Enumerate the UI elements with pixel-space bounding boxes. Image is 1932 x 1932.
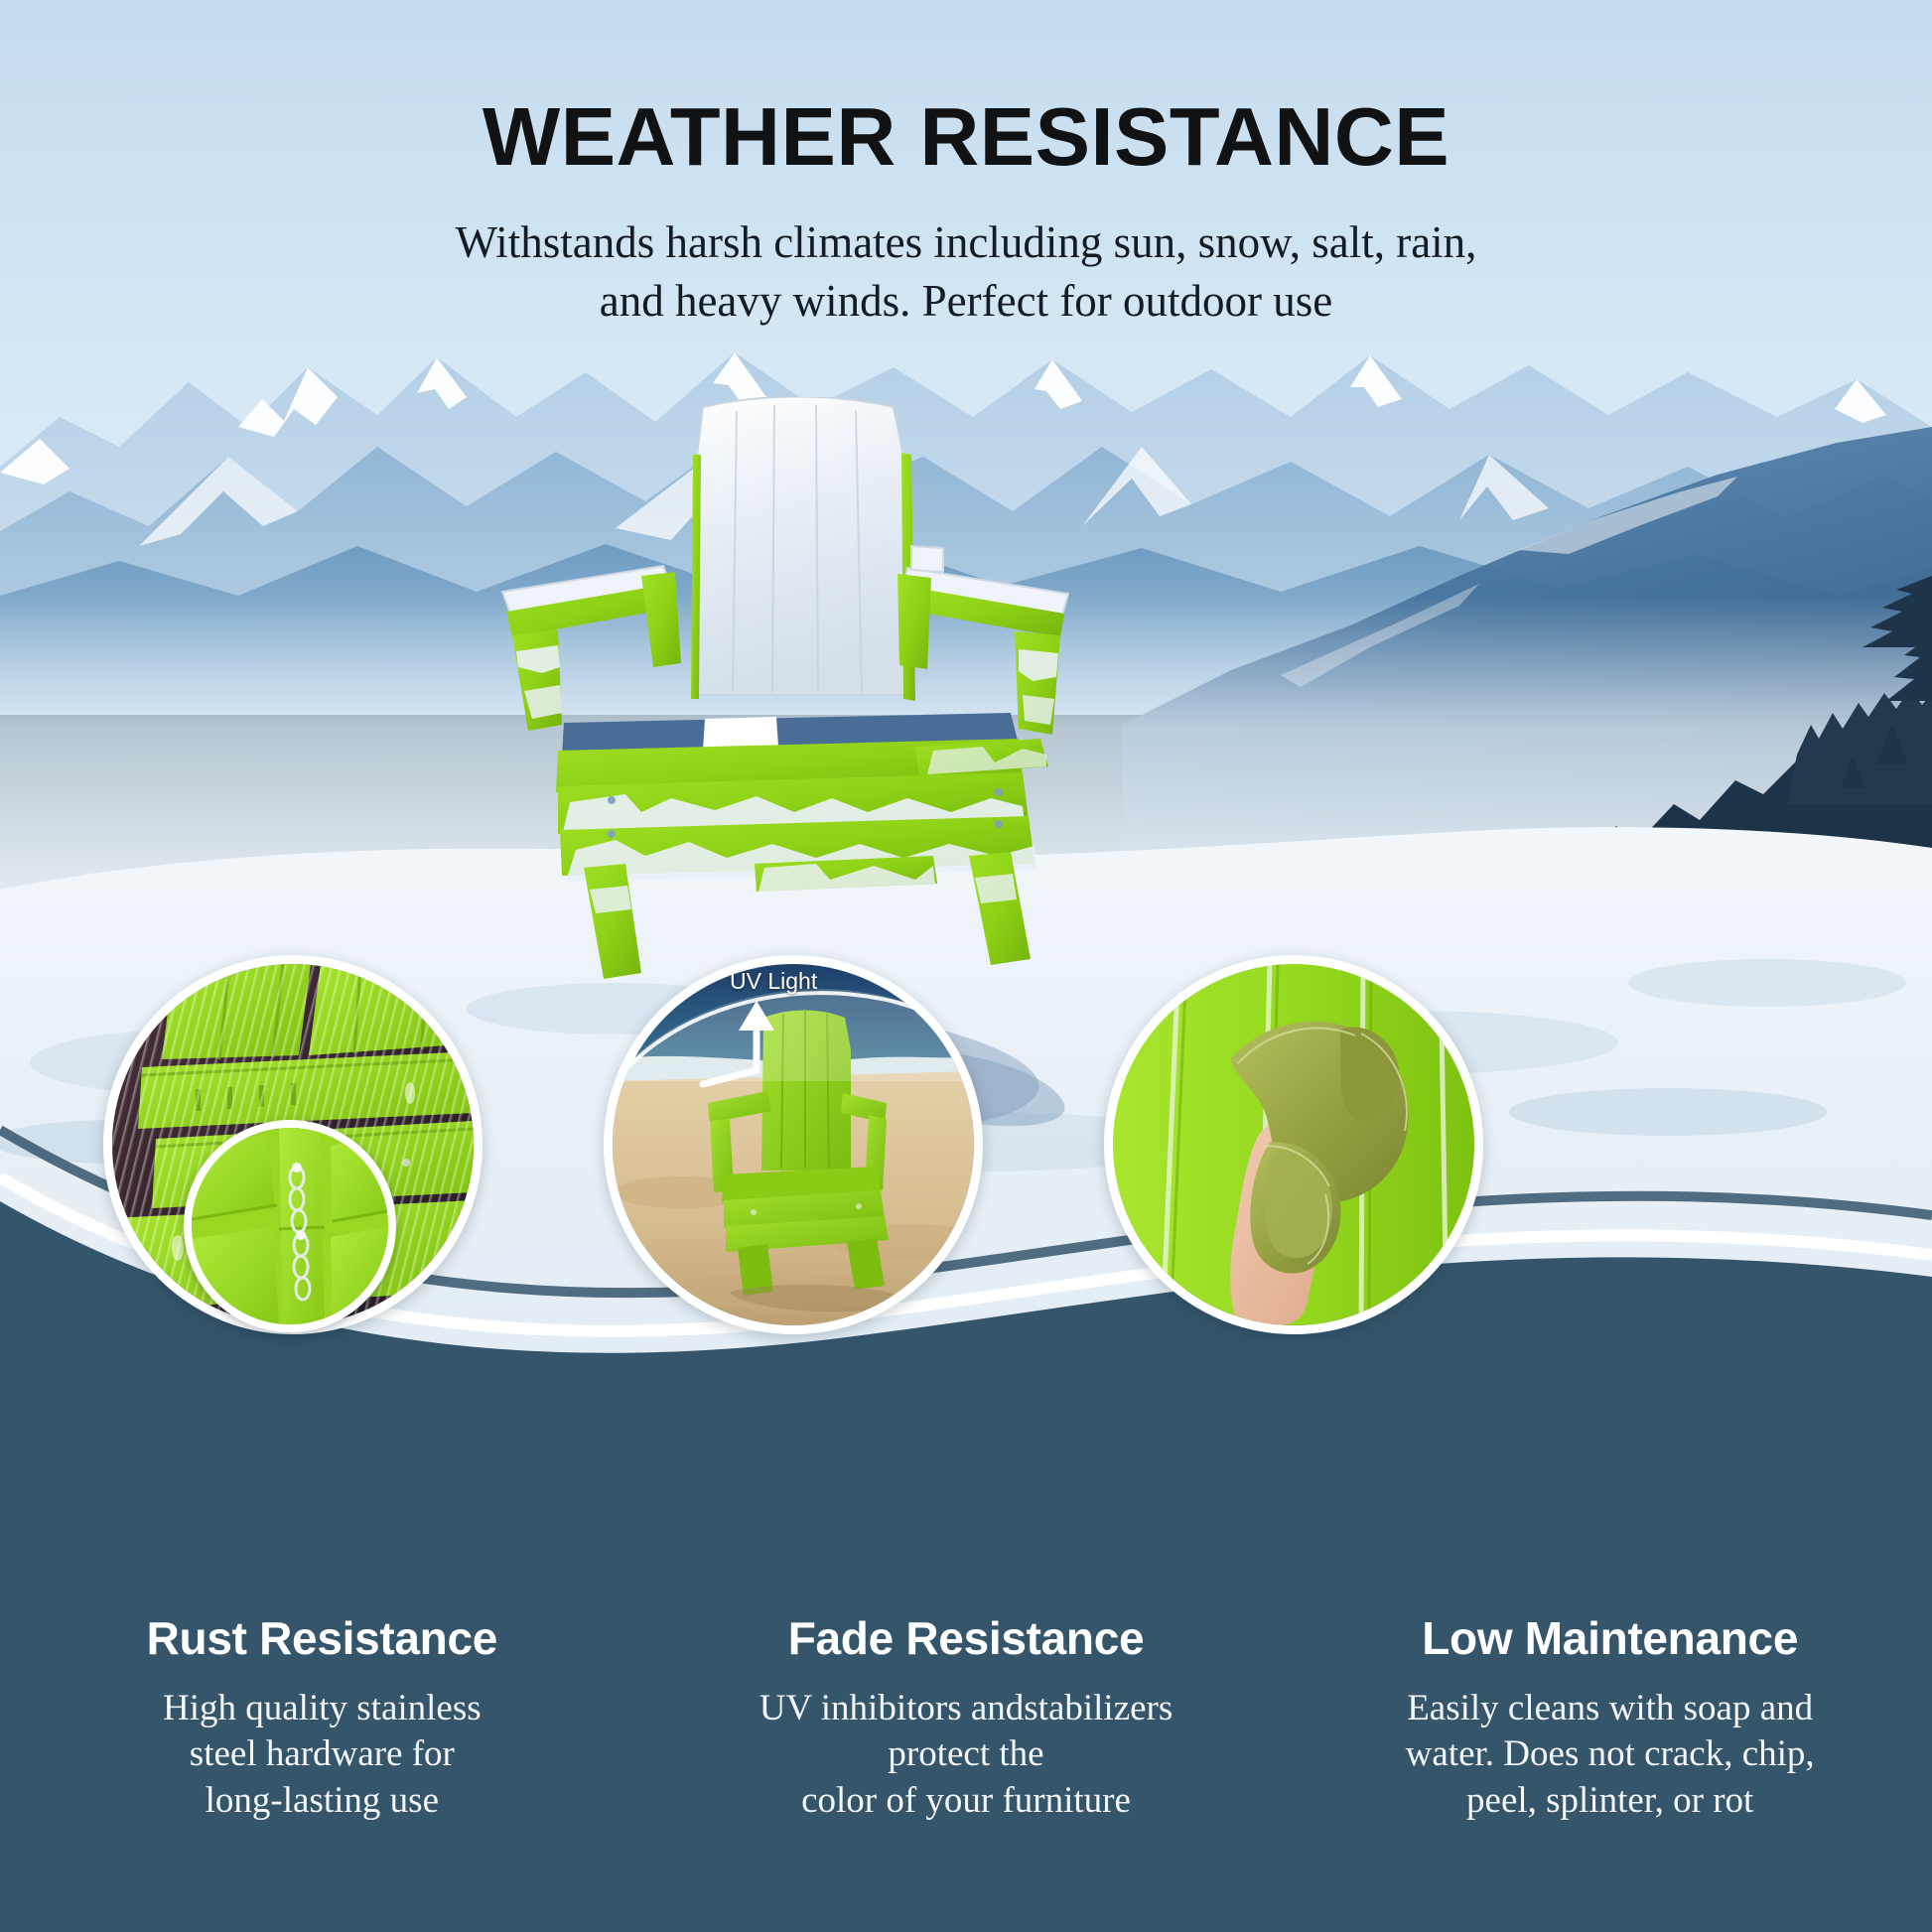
feature-heading-rust-resistance: Rust Resistance (34, 1613, 611, 1664)
tree-branch-accent (1787, 516, 1932, 755)
feature-body-line-3: color of your furniture (678, 1778, 1255, 1825)
uv-light-label: UV Light (730, 968, 817, 995)
feature-body-line-1: Easily cleans with soap and (1321, 1686, 1898, 1732)
feature-image-low-maintenance[interactable] (1104, 955, 1483, 1334)
feature-column-fade-resistance: Fade Resistance UV inhibitors andstabili… (644, 1613, 1289, 1824)
feature-body-line-2: water. Does not crack, chip, (1321, 1731, 1898, 1778)
subtitle-line-1: Withstands harsh climates including sun,… (0, 213, 1932, 272)
feature-body-line-1: High quality stainless (34, 1686, 611, 1732)
infographic-canvas: WEATHER RESISTANCE Withstands harsh clim… (0, 0, 1932, 1932)
feature-body-line-3: long-lasting use (34, 1778, 611, 1825)
feature-body-fade-resistance: UV inhibitors andstabilizers protect the… (678, 1686, 1255, 1825)
feature-body-low-maintenance: Easily cleans with soap and water. Does … (1321, 1686, 1898, 1825)
fade-resistance-photo (613, 964, 974, 1325)
feature-body-line-1: UV inhibitors andstabilizers (678, 1686, 1255, 1732)
feature-body-line-3: peel, splinter, or rot (1321, 1778, 1898, 1825)
feature-inset-stainless-hardware[interactable] (184, 1120, 396, 1332)
feature-heading-fade-resistance: Fade Resistance (678, 1613, 1255, 1664)
feature-body-line-2: protect the (678, 1731, 1255, 1778)
feature-body-line-2: steel hardware for (34, 1731, 611, 1778)
page-title: WEATHER RESISTANCE (0, 95, 1932, 178)
header-block: WEATHER RESISTANCE Withstands harsh clim… (0, 0, 1932, 332)
subtitle-line-2: and heavy winds. Perfect for outdoor use (0, 272, 1932, 331)
feature-heading-low-maintenance: Low Maintenance (1321, 1613, 1898, 1664)
feature-text-row: Rust Resistance High quality stainless s… (0, 1613, 1932, 1824)
hero-product-chair (467, 397, 1102, 993)
feature-column-rust-resistance: Rust Resistance High quality stainless s… (0, 1613, 644, 1824)
low-maintenance-photo (1113, 964, 1474, 1325)
feature-body-rust-resistance: High quality stainless steel hardware fo… (34, 1686, 611, 1825)
feature-image-fade-resistance[interactable] (604, 955, 983, 1334)
feature-column-low-maintenance: Low Maintenance Easily cleans with soap … (1288, 1613, 1932, 1824)
page-subtitle: Withstands harsh climates including sun,… (0, 213, 1932, 332)
